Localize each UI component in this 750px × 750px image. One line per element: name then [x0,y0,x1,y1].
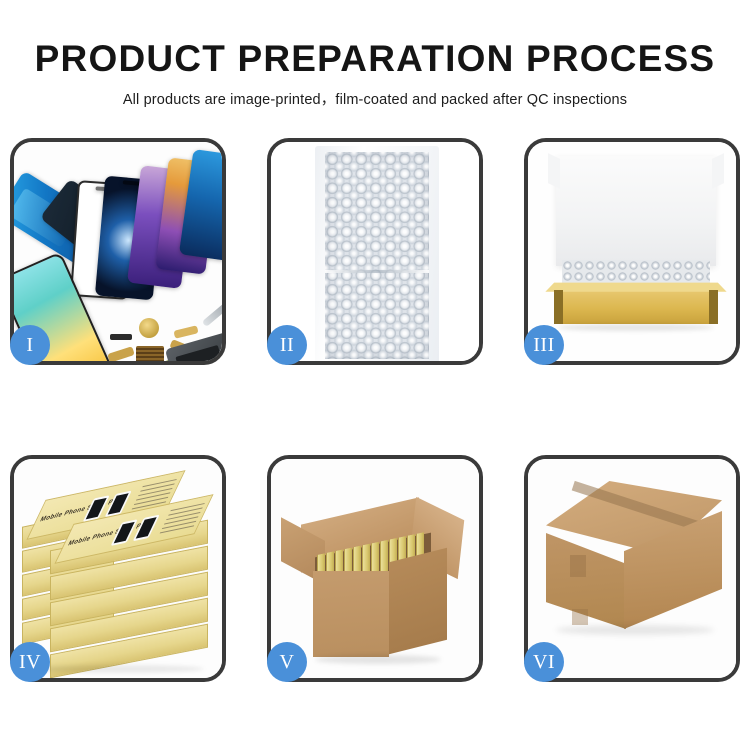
box-side-left [554,290,563,324]
drop-shadow [558,324,714,331]
flex-cable-icon [107,346,135,361]
step-image-3 [528,142,736,361]
page-title: PRODUCT PREPARATION PROCESS [0,40,750,77]
step-panel-5[interactable]: V [267,455,483,682]
carton-tape-mark [570,555,586,577]
photo-background: Mobile Phone Spare Parts Mobile Phone Sp… [14,459,222,678]
box-side-right [709,290,718,324]
drop-shadow [315,655,441,664]
step-panel-2[interactable]: II [267,138,483,365]
wrap-seam-icon [325,270,429,273]
photo-background [528,459,736,678]
page-subtitle: All products are image-printed，film-coat… [0,93,750,108]
spare-part-icon [139,318,159,338]
carton-side-face [389,548,447,654]
step-panel-4[interactable]: Mobile Phone Spare Parts Mobile Phone Sp… [10,455,226,682]
inner-box-icon [554,290,718,324]
step-image-5 [271,459,479,678]
step-badge-4: IV [10,642,50,682]
step-badge-1: I [10,325,50,365]
step-badge-3: III [524,325,564,365]
steps-grid: I II [10,138,740,682]
step-panel-6[interactable]: VI [524,455,740,682]
step-panel-3[interactable]: III [524,138,740,365]
step-image-1 [14,142,222,361]
phone-parts-photo [14,142,222,361]
product-preparation-infographic: PRODUCT PREPARATION PROCESS All products… [0,0,750,750]
spare-part-icon [110,334,132,340]
photo-background [271,459,479,678]
step-image-6 [528,459,736,678]
step-panel-1[interactable]: I [10,138,226,365]
box-lid-icon [556,156,716,266]
bubble-wrap-icon [325,152,429,359]
spare-part-icon [136,346,164,361]
step-badge-5: V [267,642,307,682]
drop-shadow [556,625,714,635]
drop-shadow [34,665,204,673]
carton-front-face [313,571,389,657]
box-stack-photo: Mobile Phone Spare Parts Mobile Phone Sp… [14,459,222,678]
photo-background [528,142,736,361]
photo-background [271,142,479,361]
header: PRODUCT PREPARATION PROCESS All products… [0,0,750,108]
step-badge-6: VI [524,642,564,682]
step-image-4: Mobile Phone Spare Parts Mobile Phone Sp… [14,459,222,678]
flex-cable-icon [173,325,198,339]
tweezers-icon [202,300,222,327]
carton-tape-mark [572,609,588,625]
step-image-2 [271,142,479,361]
step-badge-2: II [267,325,307,365]
